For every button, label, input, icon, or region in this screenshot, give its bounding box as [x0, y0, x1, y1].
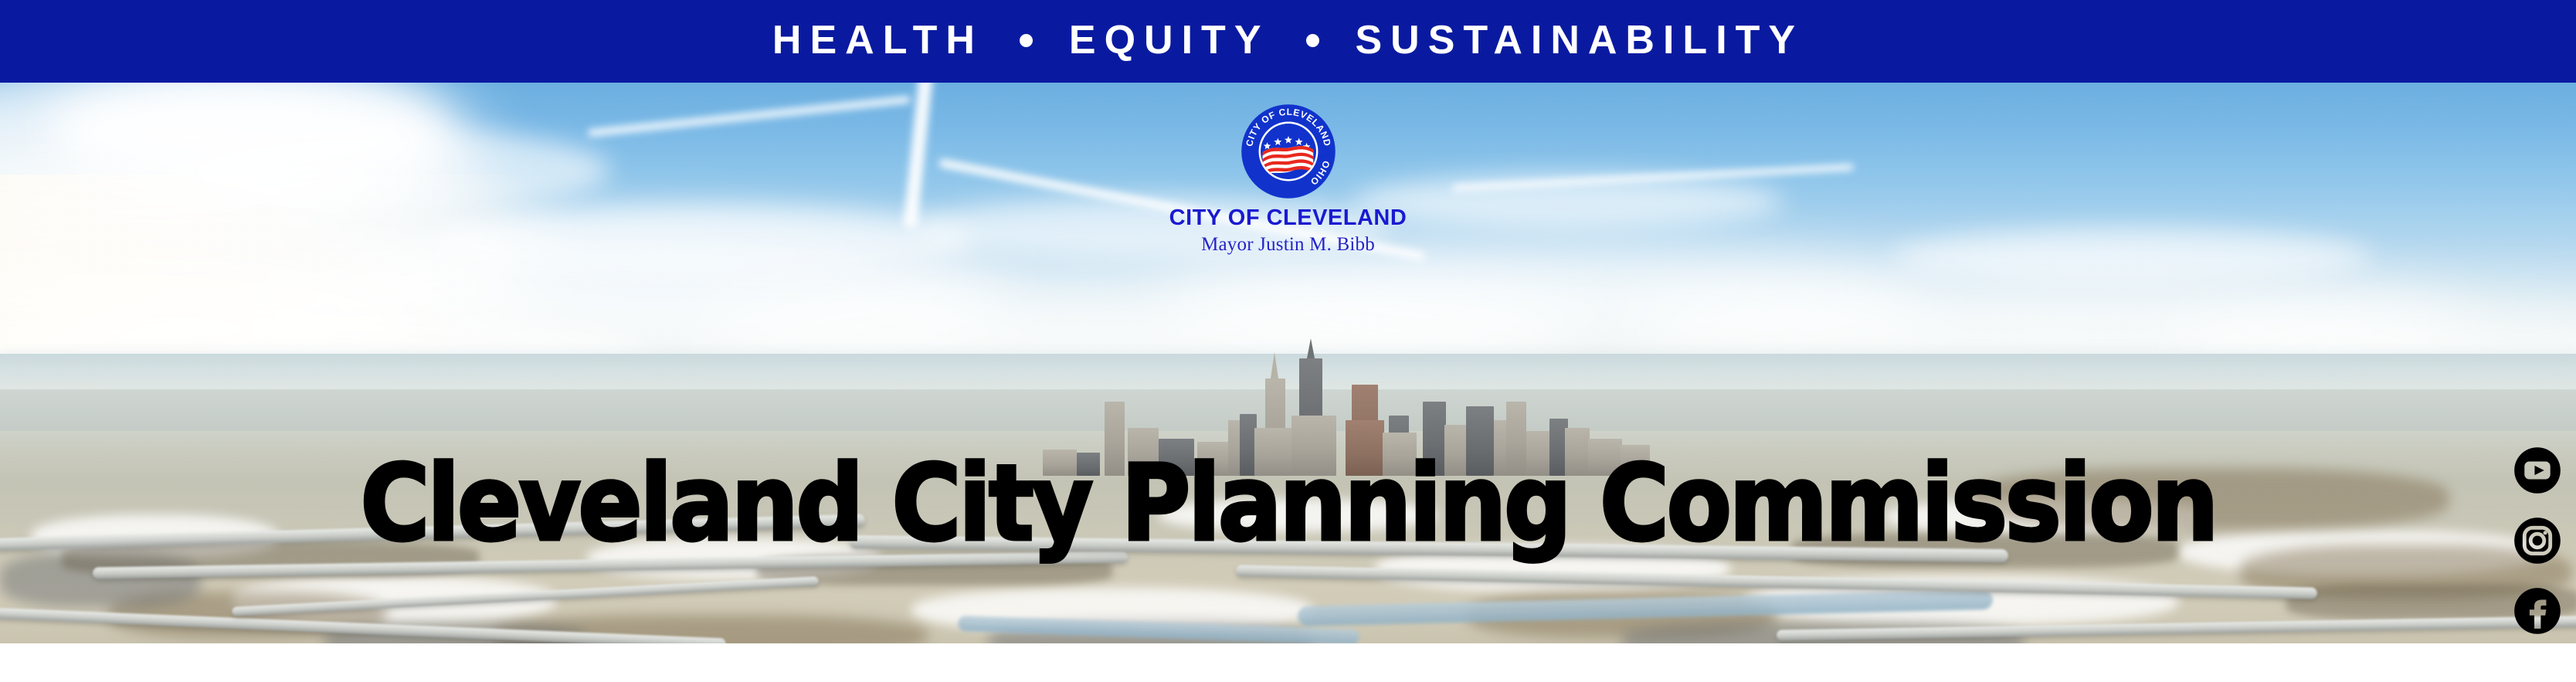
building	[1043, 450, 1077, 476]
building	[1291, 416, 1336, 476]
ground-patch	[1970, 468, 2449, 530]
page-root: HEALTH EQUITY SUSTAINABILITY	[0, 0, 2576, 682]
snow-patch	[1159, 499, 1437, 531]
building	[1346, 420, 1384, 476]
social-media-rail	[2503, 436, 2571, 645]
building	[1128, 428, 1159, 476]
building	[1466, 406, 1494, 476]
tagline-inner: HEALTH EQUITY SUSTAINABILITY	[772, 20, 1804, 60]
building	[1423, 402, 1446, 476]
building	[1077, 453, 1100, 476]
building	[1565, 428, 1590, 476]
tagline-banner: HEALTH EQUITY SUSTAINABILITY	[0, 0, 2576, 83]
bullet-dot-icon	[1306, 34, 1319, 47]
tagline-word-sustainability: SUSTAINABILITY	[1356, 20, 1804, 60]
bullet-dot-icon	[1020, 34, 1033, 47]
terminal-tower-spire	[1271, 352, 1278, 378]
instagram-icon[interactable]	[2503, 507, 2571, 575]
building	[1444, 425, 1466, 476]
tagline-word-health: HEALTH	[772, 20, 983, 60]
building	[1159, 439, 1194, 476]
building	[1621, 445, 1650, 476]
downtown-skyline	[1043, 352, 1676, 476]
building	[1588, 439, 1622, 476]
building	[1506, 402, 1526, 476]
facebook-icon[interactable]	[2503, 577, 2571, 645]
youtube-icon[interactable]	[2503, 436, 2571, 504]
hero-photo	[0, 82, 2576, 643]
key-tower-spire	[1307, 338, 1315, 358]
tagline-word-equity: EQUITY	[1069, 20, 1270, 60]
building	[1254, 428, 1296, 476]
building	[1383, 433, 1417, 476]
bottom-white-area	[0, 643, 2576, 682]
building	[1105, 402, 1125, 476]
